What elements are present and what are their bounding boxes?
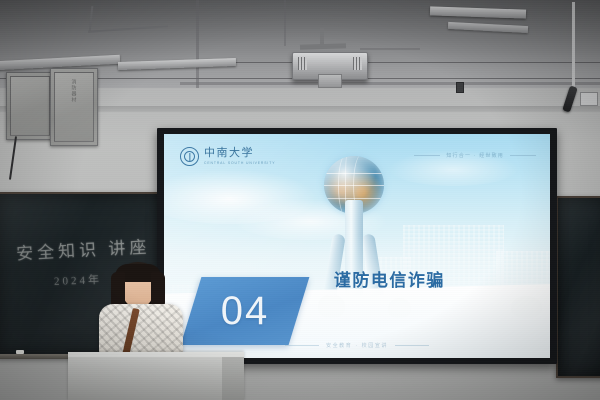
section-number: 04 [191, 277, 299, 345]
chalk-text-line-1: 安全知识 讲座 [15, 233, 150, 265]
ceiling-light [430, 6, 526, 18]
projector-lens [318, 74, 342, 88]
wall-switch[interactable] [456, 82, 464, 93]
blackboard-right [556, 196, 600, 378]
lectern [68, 352, 244, 400]
ceiling-projector [292, 52, 368, 80]
logo-name-en: CENTRAL SOUTH UNIVERSITY [204, 161, 275, 165]
ceiling-light [448, 22, 528, 33]
cabinet-label: 消防器材 [71, 79, 78, 103]
university-seal-icon [180, 147, 199, 166]
speaker-pole [572, 2, 575, 94]
ceiling-conduit [89, 6, 94, 32]
chalk-text-line-2: 2024年 [54, 271, 103, 289]
motto-text: 知行合一 · 经世致用 [446, 152, 504, 159]
ceiling-light [118, 58, 236, 70]
slide-title: 谨防电信诈骗 [334, 266, 445, 291]
projected-slide: 中南大学 CENTRAL SOUTH UNIVERSITY 知行合一 · 经世致… [164, 134, 550, 358]
slide-logo: 中南大学 CENTRAL SOUTH UNIVERSITY [180, 147, 275, 166]
slide-footnote: 安全教育 · 校园宣讲 [164, 342, 550, 349]
wall-cabinet-left[interactable] [6, 72, 54, 140]
projection-screen-frame: 中南大学 CENTRAL SOUTH UNIVERSITY 知行合一 · 经世致… [157, 128, 557, 364]
wall-cabinet-right[interactable]: 消防器材 [50, 68, 98, 146]
ceiling-beam [196, 0, 199, 92]
slide-header-motto: 知行合一 · 经世致用 [414, 152, 536, 159]
classroom-photo: 消防器材 安全知识 讲座 2024年 [0, 0, 600, 400]
speaker-person [97, 262, 185, 362]
speaker-box [580, 92, 598, 106]
footnote-text: 安全教育 · 校园宣讲 [326, 342, 388, 349]
chalk-piece [16, 350, 24, 354]
slide-section-badge: 04 [181, 277, 310, 345]
logo-name-cn: 中南大学 [204, 148, 275, 159]
